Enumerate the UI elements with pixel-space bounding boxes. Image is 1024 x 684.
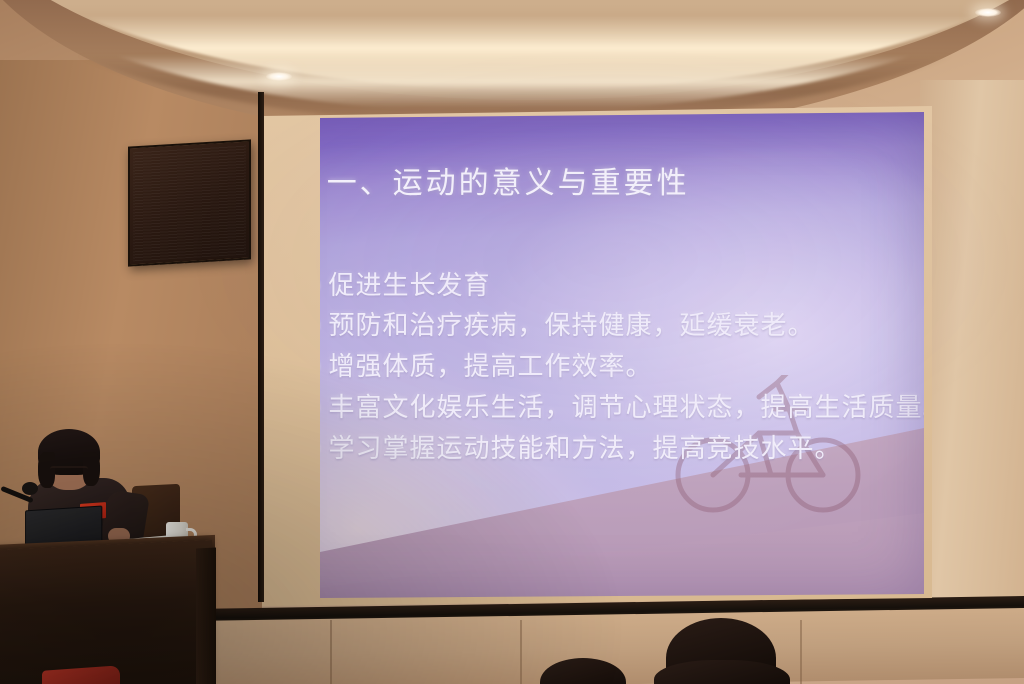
projection-screen: 一、运动的意义与重要性 促进生长发育 预防和治疗疾病，保持健康，延缓衰老。 增强… (264, 112, 924, 598)
lectern-side (196, 548, 216, 684)
list-item: 丰富文化娱乐生活，调节心理状态，提高生活质量。 (312, 390, 905, 427)
list-item: 学习掌握运动技能和方法，提高竞技水平。 (312, 431, 905, 468)
wall-speaker-panel (128, 139, 251, 266)
slide-bullet-list: 促进生长发育 预防和治疗疾病，保持健康，延缓衰老。 增强体质，提高工作效率。 丰… (312, 268, 905, 473)
wall-seam-2 (520, 620, 522, 684)
slide-background: 一、运动的意义与重要性 促进生长发育 预防和治疗疾病，保持健康，延缓衰老。 增强… (264, 112, 924, 598)
list-item: 促进生长发育 (312, 268, 905, 305)
right-wall-panel (920, 80, 1024, 640)
wall-seam-1 (330, 620, 332, 684)
bullet-text: 增强体质，提高工作效率。 (329, 349, 653, 386)
bullet-text: 丰富文化娱乐生活，调节心理状态，提高生活质量。 (329, 390, 924, 427)
downlight-icon-left (266, 72, 292, 81)
slide-title: 一、运动的意义与重要性 (327, 158, 690, 202)
lecture-hall-photo: 一、运动的意义与重要性 促进生长发育 预防和治疗疾病，保持健康，延缓衰老。 增强… (0, 0, 1024, 684)
list-item: 增强体质，提高工作效率。 (312, 349, 905, 386)
bullet-text: 学习掌握运动技能和方法，提高竞技水平。 (329, 431, 842, 468)
bullet-text: 促进生长发育 (329, 268, 491, 305)
glasses-icon (50, 466, 88, 474)
microphone-icon (22, 482, 38, 495)
list-item: 预防和治疗疾病，保持健康，延缓衰老。 (312, 308, 905, 345)
speaker-mesh (133, 145, 246, 262)
wall-seam-3 (800, 620, 802, 684)
projection-screen-rod (258, 92, 264, 602)
bullet-text: 预防和治疗疾病，保持健康，延缓衰老。 (329, 308, 815, 345)
lectern (0, 540, 212, 684)
downlight-icon-right (975, 8, 1001, 17)
